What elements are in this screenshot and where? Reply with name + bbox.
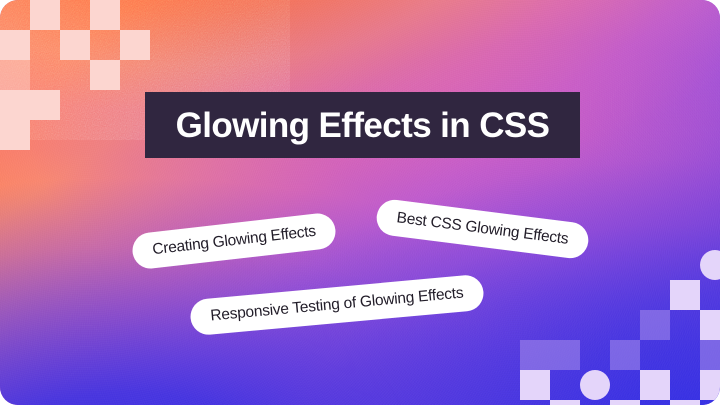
title-banner: Glowing Effects in CSS <box>145 92 580 158</box>
poster-card: Glowing Effects in CSS Creating Glowing … <box>0 0 720 405</box>
page-title: Glowing Effects in CSS <box>176 108 550 143</box>
gradient-blue-corner-layer <box>0 0 720 405</box>
